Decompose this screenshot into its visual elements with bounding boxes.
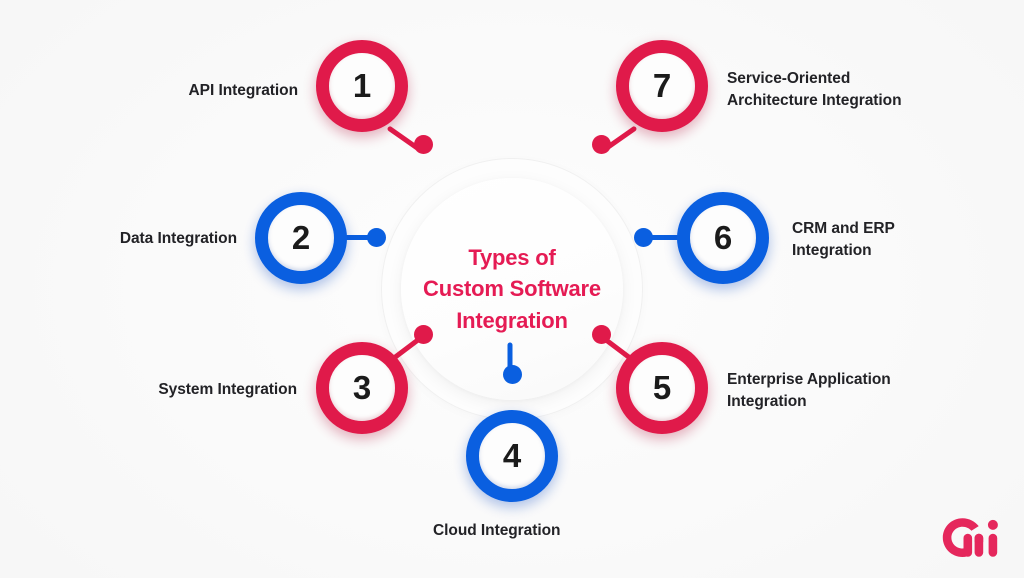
node-number-4: 4 (503, 439, 521, 472)
node-circle-6[interactable]: 6 (677, 192, 769, 284)
connector-dot-node-6 (634, 228, 653, 247)
node-number-3: 3 (353, 371, 371, 404)
node-circle-7[interactable]: 7 (616, 40, 708, 132)
node-number-5: 5 (653, 371, 671, 404)
node-number-2: 2 (292, 221, 310, 254)
node-label-3: System Integration (20, 379, 297, 401)
mi-logo (936, 514, 1002, 562)
connector-dot-node-4 (503, 365, 522, 384)
node-label-5: Enterprise Application Integration (727, 369, 1017, 414)
connector-dot-node-7 (592, 135, 611, 154)
node-label-1: API Integration (20, 80, 298, 102)
node-label-7-line-1: Service-Oriented (727, 68, 1022, 90)
node-number-1: 1 (353, 69, 371, 102)
node-circle-1[interactable]: 1 (316, 40, 408, 132)
connector-dot-node-2 (367, 228, 386, 247)
node-circle-4[interactable]: 4 (466, 410, 558, 502)
node-label-2: Data Integration (20, 228, 237, 250)
node-label-1-line-1: API Integration (20, 80, 298, 102)
node-label-7-line-2: Architecture Integration (727, 90, 1022, 112)
node-label-3-line-1: System Integration (20, 379, 297, 401)
node-label-4-line-1: Cloud Integration (433, 520, 713, 542)
node-label-7: Service-Oriented Architecture Integratio… (727, 68, 1022, 113)
node-number-6: 6 (714, 221, 732, 254)
node-label-5-line-2: Integration (727, 391, 1017, 413)
node-label-6-line-2: Integration (792, 240, 1022, 262)
connector-dot-node-3 (414, 325, 433, 344)
connector-dot-node-1 (414, 135, 433, 154)
node-label-6: CRM and ERP Integration (792, 218, 1022, 263)
node-number-7: 7 (653, 69, 671, 102)
node-circle-5[interactable]: 5 (616, 342, 708, 434)
node-circle-2[interactable]: 2 (255, 192, 347, 284)
node-label-6-line-1: CRM and ERP (792, 218, 1022, 240)
infographic-canvas: Types of Custom Software Integration 1 2… (0, 0, 1024, 578)
node-circle-3[interactable]: 3 (316, 342, 408, 434)
node-label-2-line-1: Data Integration (20, 228, 237, 250)
connector-dot-node-5 (592, 325, 611, 344)
node-label-5-line-1: Enterprise Application (727, 369, 1017, 391)
node-label-4: Cloud Integration (433, 520, 713, 542)
